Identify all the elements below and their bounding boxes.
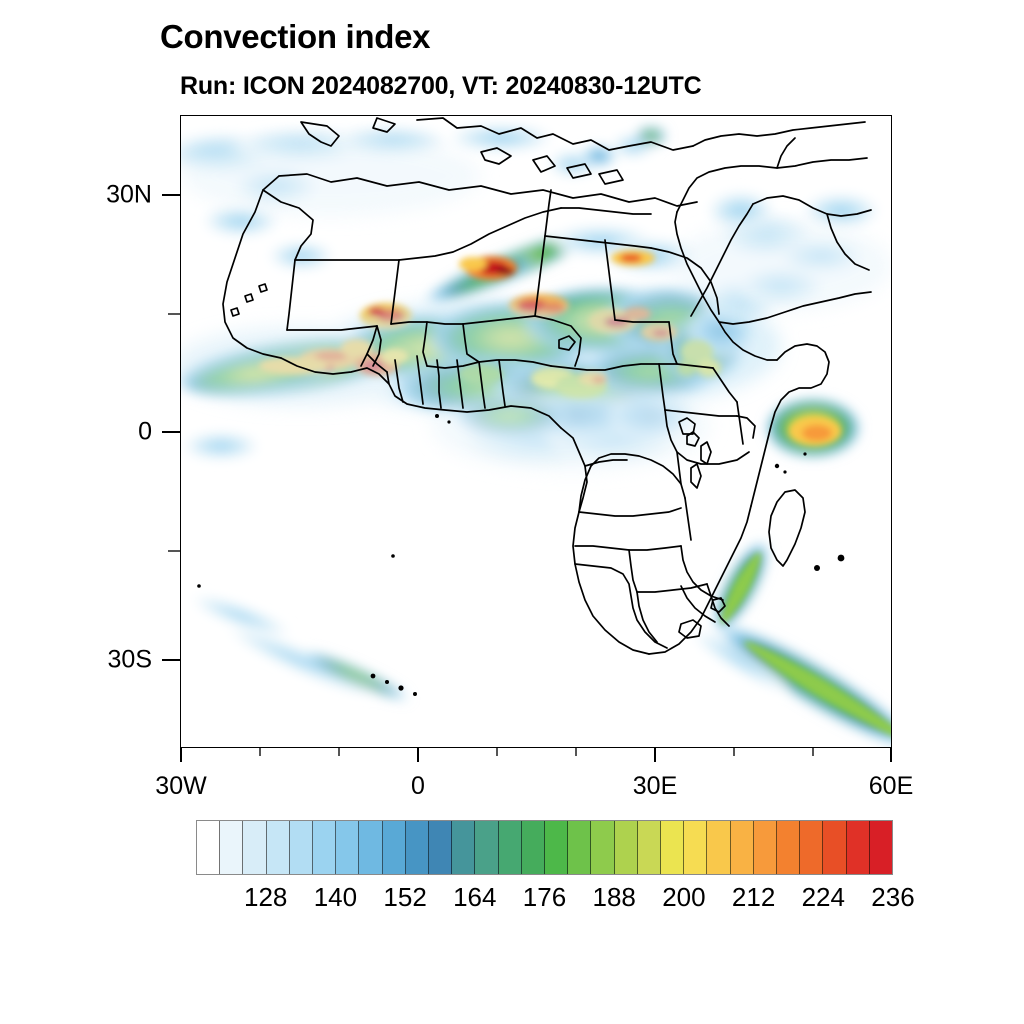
colorbar-cell (290, 821, 313, 874)
xtick-major-60e (890, 748, 892, 762)
page-subtitle: Run: ICON 2024082700, VT: 20240830-12UTC (180, 72, 701, 101)
colorbar-cell (800, 821, 823, 874)
xtick-label-0: 0 (411, 772, 425, 801)
map-graphic (181, 116, 891, 747)
xtick-minor-50e (812, 748, 814, 756)
xtick-major-30w (180, 748, 182, 762)
colorbar-cell (359, 821, 382, 874)
colorbar-cell (429, 821, 452, 874)
ytick-major-30n (162, 194, 180, 196)
xtick-minor-10w (338, 748, 340, 756)
colorbar-cell (638, 821, 661, 874)
ytick-major-30s (162, 659, 180, 661)
colorbar-tick-label: 212 (732, 882, 775, 913)
colorbar-cell (406, 821, 429, 874)
ytick-label-30n: 30N (100, 181, 152, 210)
xtick-minor-20w (259, 748, 261, 756)
colorbar-cell (243, 821, 266, 874)
colorbar-cell (522, 821, 545, 874)
colorbar-cell (731, 821, 754, 874)
colorbar-tick-label: 152 (383, 882, 426, 913)
colorbar-cell (777, 821, 800, 874)
colorbar-cell (754, 821, 777, 874)
colorbar-tick-label: 224 (802, 882, 845, 913)
colorbar-tick-label: 164 (453, 882, 496, 913)
ytick-label-0: 0 (100, 418, 152, 447)
colorbar-cell (452, 821, 475, 874)
ytick-label-30s: 30S (100, 646, 152, 675)
colorbar-tick-label: 128 (244, 882, 287, 913)
xtick-label-30w: 30W (155, 772, 206, 801)
map-plot-area[interactable] (180, 115, 892, 748)
colorbar-cell (499, 821, 522, 874)
colorbar-cell (475, 821, 498, 874)
xtick-label-60e: 60E (869, 772, 913, 801)
xtick-minor-40e (733, 748, 735, 756)
colorbar-cell (383, 821, 406, 874)
colorbar-tick-label: 188 (592, 882, 635, 913)
xtick-minor-10e (496, 748, 498, 756)
ytick-minor-15s (168, 550, 180, 552)
colorbar-cell (684, 821, 707, 874)
colorbar-tick-label: 176 (523, 882, 566, 913)
colorbar-cell (197, 821, 220, 874)
colorbar-cell (267, 821, 290, 874)
colorbar[interactable] (196, 820, 893, 875)
ytick-major-0 (162, 431, 180, 433)
colorbar-cell (615, 821, 638, 874)
colorbar-tick-labels: 128140152164176188200212224236 (0, 882, 1024, 916)
colorbar-cell (707, 821, 730, 874)
colorbar-cell (545, 821, 568, 874)
xtick-label-30e: 30E (633, 772, 677, 801)
colorbar-tick-label: 200 (662, 882, 705, 913)
colorbar-tick-label: 140 (314, 882, 357, 913)
colorbar-cell (661, 821, 684, 874)
map-canvas (181, 116, 891, 747)
colorbar-cell (568, 821, 591, 874)
colorbar-cell (220, 821, 243, 874)
colorbar-cell (823, 821, 846, 874)
colorbar-cell (870, 821, 892, 874)
page-title: Convection index (160, 18, 430, 56)
colorbar-cell (847, 821, 870, 874)
colorbar-cell (313, 821, 336, 874)
colorbar-tick-label: 236 (871, 882, 914, 913)
xtick-minor-20e (575, 748, 577, 756)
xtick-major-0 (417, 748, 419, 762)
colorbar-cell (591, 821, 614, 874)
xtick-major-30e (654, 748, 656, 762)
colorbar-cell (336, 821, 359, 874)
ytick-minor-15n (168, 313, 180, 315)
